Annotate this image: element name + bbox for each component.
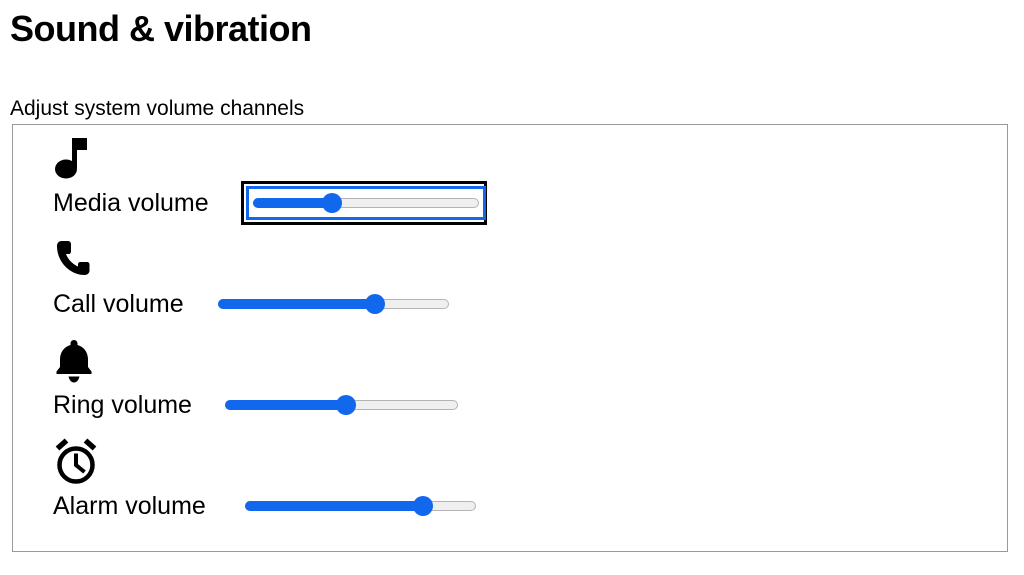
slider-thumb-media[interactable] — [322, 193, 342, 213]
bell-icon — [53, 337, 109, 385]
volume-slider-ring[interactable] — [225, 395, 458, 415]
volume-channels-panel: Media volume Call volume — [12, 124, 1008, 552]
slider-fill-media — [253, 198, 332, 208]
volume-row-media: Media volume — [13, 131, 1007, 232]
slider-thumb-ring[interactable] — [336, 395, 356, 415]
volume-slider-ring-wrap[interactable] — [225, 391, 458, 419]
volume-label-alarm: Alarm volume — [53, 490, 206, 522]
phone-icon — [53, 236, 109, 284]
slider-thumb-call[interactable] — [365, 294, 385, 314]
volume-row-alarm: Alarm volume — [13, 434, 1007, 535]
slider-fill-ring — [225, 400, 346, 410]
music-note-icon — [53, 135, 109, 183]
slider-fill-call — [218, 299, 375, 309]
volume-row-call: Call volume — [13, 232, 1007, 333]
page-title: Sound & vibration — [10, 6, 312, 52]
volume-slider-call[interactable] — [218, 294, 449, 314]
alarm-clock-icon — [53, 438, 109, 486]
volume-label-media: Media volume — [53, 187, 209, 219]
volume-slider-media-focus-ring[interactable] — [241, 181, 487, 225]
section-subtitle: Adjust system volume channels — [10, 96, 304, 121]
volume-slider-media[interactable] — [253, 193, 479, 213]
volume-row-ring: Ring volume — [13, 333, 1007, 434]
volume-slider-alarm[interactable] — [245, 496, 476, 516]
volume-label-call: Call volume — [53, 288, 184, 320]
volume-slider-call-wrap[interactable] — [218, 290, 449, 318]
volume-slider-alarm-wrap[interactable] — [245, 492, 476, 520]
slider-thumb-alarm[interactable] — [413, 496, 433, 516]
slider-fill-alarm — [245, 501, 423, 511]
volume-label-ring: Ring volume — [53, 389, 192, 421]
